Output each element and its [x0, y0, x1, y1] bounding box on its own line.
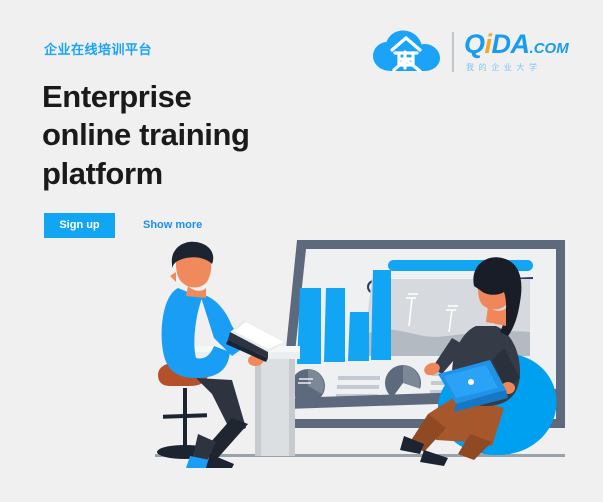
bar-3: [348, 312, 369, 361]
bar-1: [297, 288, 321, 364]
page-title: Enterprise online training platform: [42, 78, 342, 193]
bar-2: [324, 288, 345, 362]
shoe-w2: [420, 450, 448, 466]
headline-line-3: platform: [42, 155, 342, 193]
logo-divider: [452, 32, 454, 72]
logo-domain-suffix: .COM: [530, 40, 569, 57]
page-tagline: 企业在线培训平台: [44, 39, 152, 58]
ear: [170, 272, 176, 282]
logo-letter-i: i: [485, 29, 492, 59]
cloud-icon: [372, 30, 444, 74]
headline-line-1: Enterprise: [42, 78, 342, 116]
hero-banner: 企业在线培训平台 Enterprise online training plat…: [0, 0, 603, 502]
logo-subtitle: 我的企业大学: [466, 62, 570, 73]
logo-letters-da: DA: [492, 29, 530, 59]
headline-line-2: online training: [42, 116, 342, 154]
logo-wordmark: QiDA.COM: [464, 30, 569, 58]
logo-letter-q: Q: [464, 29, 485, 59]
people-working-dashboard-illustration: [0, 228, 603, 468]
brand-logo[interactable]: QiDA.COM 我的企业大学: [372, 28, 572, 78]
neck: [186, 286, 206, 298]
bar-4: [371, 270, 391, 360]
